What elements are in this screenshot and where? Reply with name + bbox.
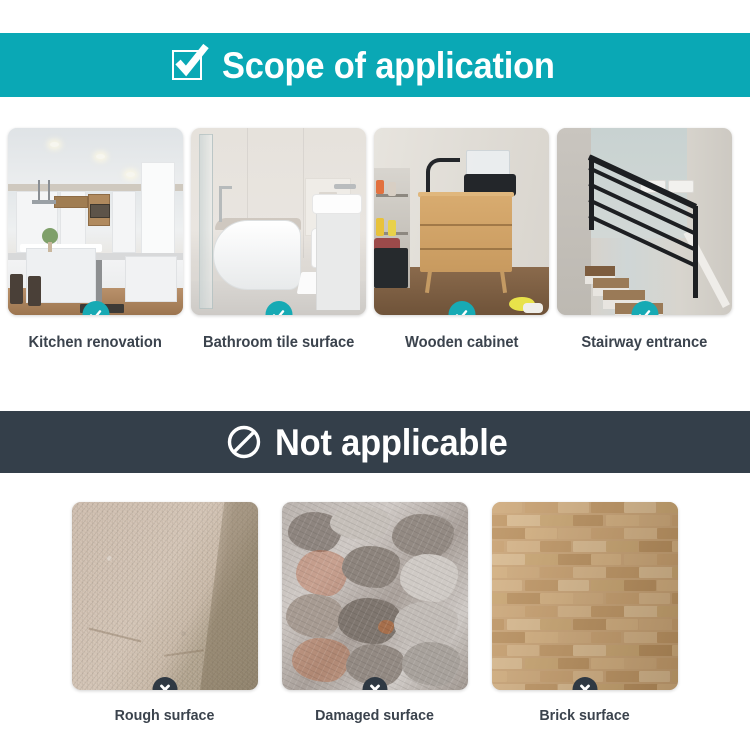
applicable-card-kitchen: Kitchen renovation	[8, 128, 183, 352]
x-icon	[159, 683, 172, 690]
checkbox-check-icon	[170, 45, 210, 85]
not-applicable-banner: Not applicable	[0, 411, 750, 473]
check-icon	[638, 308, 652, 316]
not-applicable-banner-title: Not applicable	[275, 424, 508, 461]
stairway-photo	[557, 128, 732, 315]
not-applicable-caption-damaged: Damaged surface	[316, 707, 435, 724]
check-icon	[89, 308, 103, 316]
applicable-card-cabinet: Wooden cabinet	[374, 128, 549, 352]
scope-banner-title: Scope of application	[222, 47, 555, 84]
not-applicable-card-damaged: Damaged surface	[282, 502, 468, 724]
damaged-surface-photo	[282, 502, 468, 690]
applicable-caption-stairway: Stairway entrance	[581, 334, 707, 352]
applicable-cards-row: Kitchen renovation Ba	[0, 128, 750, 352]
cabinet-photo	[374, 128, 549, 315]
brick-surface-photo	[492, 502, 678, 690]
applicable-caption-cabinet: Wooden cabinet	[405, 334, 518, 352]
bathroom-photo	[191, 128, 366, 315]
check-icon	[272, 308, 286, 316]
applicable-card-bathroom: Bathroom tile surface	[191, 128, 366, 352]
check-icon	[455, 308, 469, 316]
applicable-caption-kitchen: Kitchen renovation	[29, 334, 162, 352]
x-icon	[579, 683, 592, 690]
x-icon	[369, 683, 382, 690]
not-applicable-caption-rough: Rough surface	[115, 707, 215, 724]
not-applicable-card-rough: Rough surface	[72, 502, 258, 724]
prohibited-icon	[225, 423, 263, 461]
applicable-caption-bathroom: Bathroom tile surface	[203, 334, 354, 352]
scope-of-application-banner: Scope of application	[0, 33, 750, 97]
not-applicable-caption-brick: Brick surface	[540, 707, 630, 724]
not-applicable-cards-row: Rough surface Damaged surface	[0, 502, 750, 724]
rough-surface-photo	[72, 502, 258, 690]
kitchen-photo	[8, 128, 183, 315]
applicable-card-stairway: Stairway entrance	[557, 128, 732, 352]
not-applicable-card-brick: Brick surface	[492, 502, 678, 724]
